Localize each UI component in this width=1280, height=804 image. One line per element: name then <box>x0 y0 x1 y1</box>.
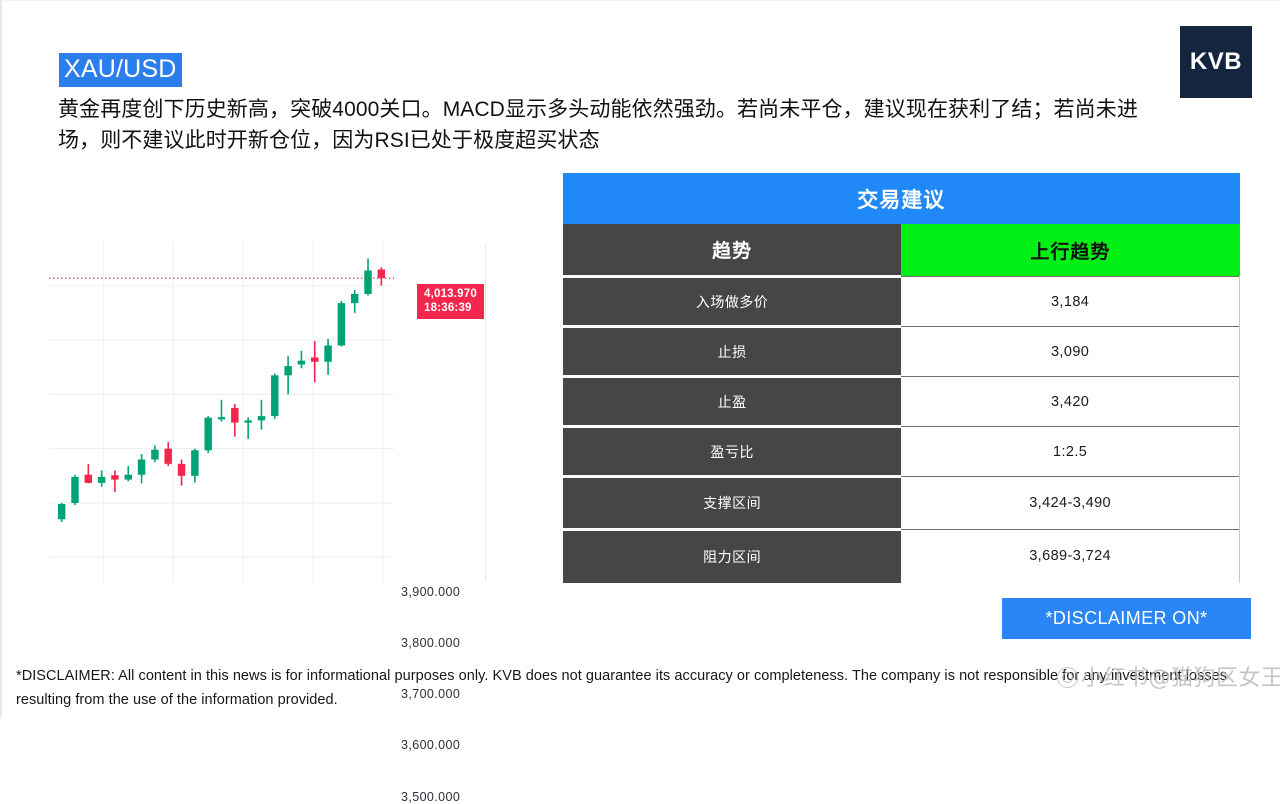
trade-advice-table-body: 交易建议 趋势 上行趋势 入场做多价 3,184 止损 3,090 止盈 3,4… <box>563 173 1240 583</box>
kvb-logo: KVB <box>1180 26 1252 98</box>
table-header-trend-value: 上行趋势 <box>901 224 1239 277</box>
table-row: 止盈 3,420 <box>563 377 1240 427</box>
trade-advice-table: 交易建议 趋势 上行趋势 入场做多价 3,184 止损 3,090 止盈 3,4… <box>563 173 1240 583</box>
table-row: 阻力区间 3,689-3,724 <box>563 530 1240 583</box>
row-label-stoploss: 止损 <box>563 327 901 377</box>
table-title-row: 交易建议 <box>563 173 1240 224</box>
disclaimer-on-button[interactable]: *DISCLAIMER ON* <box>1002 598 1251 639</box>
table-row: 支撑区间 3,424-3,490 <box>563 477 1240 530</box>
current-price-value: 4,013.970 <box>424 287 477 301</box>
current-price-time: 18:36:39 <box>424 301 477 315</box>
y-tick-3600: 3,600.000 <box>401 738 460 752</box>
row-label-riskreward: 盈亏比 <box>563 427 901 477</box>
row-label-takeprofit: 止盈 <box>563 377 901 427</box>
y-tick-3900: 3,900.000 <box>401 585 460 599</box>
candlestick-plot <box>49 241 394 583</box>
candlestick-svg <box>49 241 394 583</box>
row-value-entry: 3,184 <box>901 277 1239 327</box>
row-value-riskreward: 1:2.5 <box>901 427 1239 477</box>
table-row: 止损 3,090 <box>563 327 1240 377</box>
row-value-takeprofit: 3,420 <box>901 377 1239 427</box>
y-tick-3500: 3,500.000 <box>401 790 460 804</box>
chart-right-divider <box>485 245 486 581</box>
kvb-logo-text: KVB <box>1190 48 1242 76</box>
y-tick-3800: 3,800.000 <box>401 636 460 650</box>
row-value-resistance: 3,689-3,724 <box>901 530 1239 583</box>
table-header-trend-label: 趋势 <box>563 224 901 277</box>
table-row: 盈亏比 1:2.5 <box>563 427 1240 477</box>
table-title: 交易建议 <box>563 173 1240 224</box>
row-value-support: 3,424-3,490 <box>901 477 1239 530</box>
market-summary-text: 黄金再度创下历史新高，突破4000关口。MACD显示多头动能依然强劲。若尚未平仓… <box>58 94 1148 156</box>
row-value-stoploss: 3,090 <box>901 327 1239 377</box>
row-label-support: 支撑区间 <box>563 477 901 530</box>
row-label-resistance: 阻力区间 <box>563 530 901 583</box>
table-header-row: 趋势 上行趋势 <box>563 224 1240 277</box>
table-row: 入场做多价 3,184 <box>563 277 1240 327</box>
symbol-tag: XAU/USD <box>59 53 182 87</box>
current-price-badge: 4,013.970 18:36:39 <box>417 284 484 319</box>
row-label-entry: 入场做多价 <box>563 277 901 327</box>
page-root: XAU/USD 黄金再度创下历史新高，突破4000关口。MACD显示多头动能依然… <box>0 0 1280 717</box>
footer-disclaimer: *DISCLAIMER: All content in this news is… <box>16 664 1271 712</box>
